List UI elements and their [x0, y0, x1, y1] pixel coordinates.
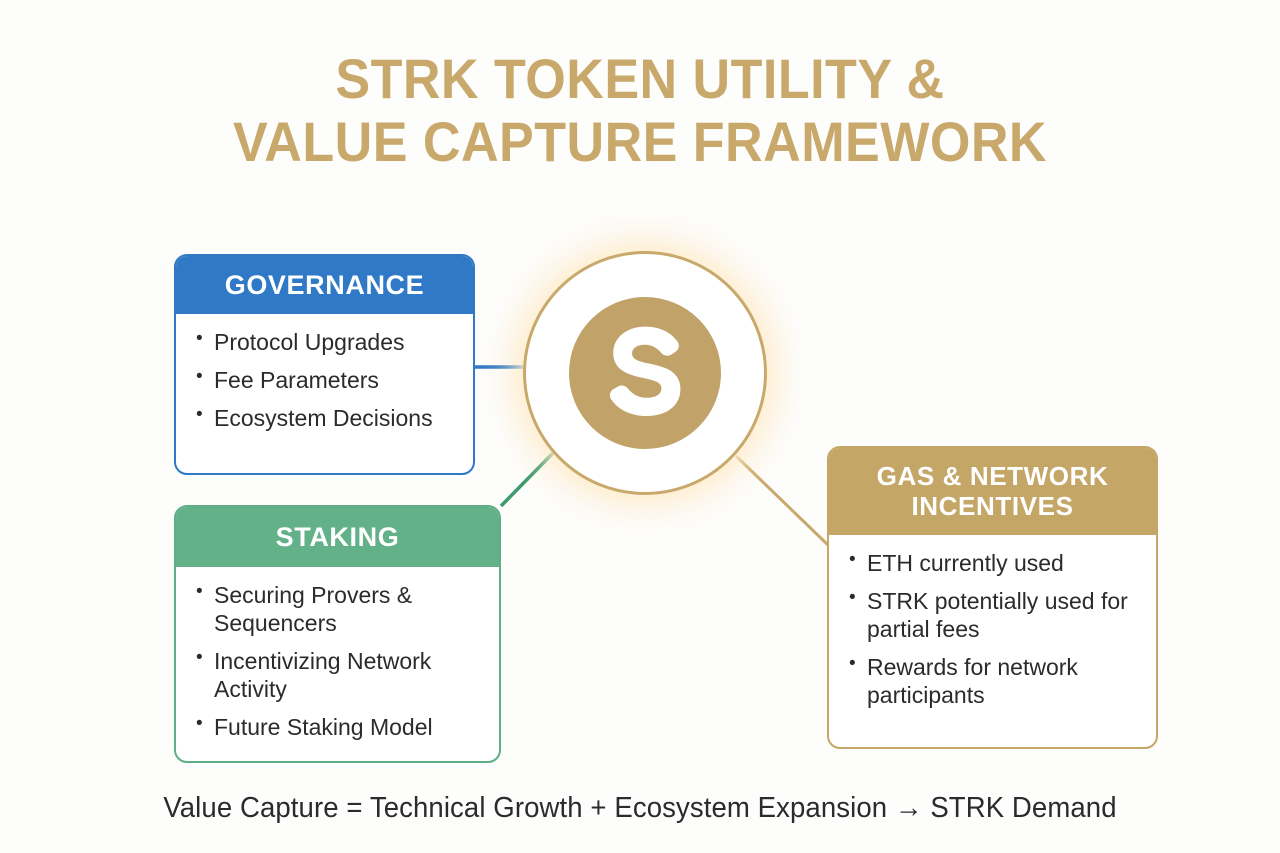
card-governance-body: Protocol Upgrades Fee Parameters Ecosyst… [176, 314, 473, 446]
list-item: Fee Parameters [194, 366, 457, 394]
card-gas-incentives-header: GAS & NETWORK INCENTIVES [829, 448, 1156, 535]
card-gas-incentives-body: ETH currently used STRK potentially used… [829, 535, 1156, 723]
list-item: Rewards for network participants [847, 653, 1140, 709]
card-governance-header: GOVERNANCE [176, 256, 473, 314]
card-gas-header-line-2: INCENTIVES [911, 491, 1073, 521]
card-governance-list: Protocol Upgrades Fee Parameters Ecosyst… [194, 328, 457, 432]
strk-token-logo-icon [569, 297, 721, 449]
list-item: Securing Provers & Sequencers [194, 581, 483, 637]
infographic-canvas: STRK TOKEN UTILITY & VALUE CAPTURE FRAME… [0, 0, 1280, 853]
page-title: STRK TOKEN UTILITY & VALUE CAPTURE FRAME… [45, 48, 1235, 173]
card-gas-incentives-list: ETH currently used STRK potentially used… [847, 549, 1140, 709]
title-line-2: VALUE CAPTURE FRAMEWORK [45, 111, 1235, 174]
title-line-1: STRK TOKEN UTILITY & [335, 47, 944, 110]
card-staking-header: STAKING [176, 507, 499, 567]
card-gas-header-line-1: GAS & NETWORK [877, 461, 1109, 491]
card-staking-list: Securing Provers & Sequencers Incentiviz… [194, 581, 483, 741]
card-staking[interactable]: STAKING Securing Provers & Sequencers In… [174, 505, 501, 763]
list-item: Protocol Upgrades [194, 328, 457, 356]
list-item: Incentivizing Network Activity [194, 647, 483, 703]
list-item: STRK potentially used for partial fees [847, 587, 1140, 643]
card-gas-incentives[interactable]: GAS & NETWORK INCENTIVES ETH currently u… [827, 446, 1158, 749]
list-item: Future Staking Model [194, 713, 483, 741]
card-staking-body: Securing Provers & Sequencers Incentiviz… [176, 567, 499, 755]
list-item: ETH currently used [847, 549, 1140, 577]
card-governance[interactable]: GOVERNANCE Protocol Upgrades Fee Paramet… [174, 254, 475, 475]
value-capture-formula: Value Capture = Technical Growth + Ecosy… [32, 792, 1248, 825]
list-item: Ecosystem Decisions [194, 404, 457, 432]
